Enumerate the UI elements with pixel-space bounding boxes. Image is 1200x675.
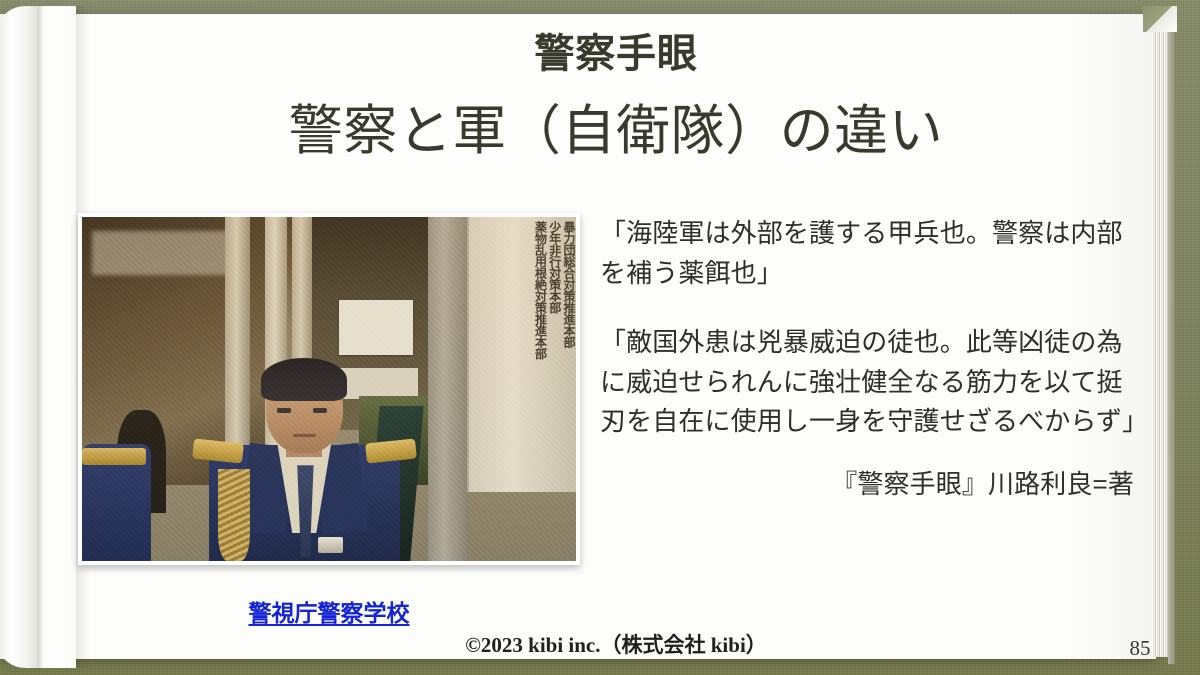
- book-cover-edge: [1168, 10, 1175, 664]
- photo-caption-link[interactable]: 警視庁警察学校: [78, 594, 580, 628]
- photo-film-grain: [82, 217, 576, 561]
- book-spine: [0, 6, 76, 668]
- book-backdrop: 警察手眼 警察と軍（自衛隊）の違い 暴力団総合対策推進本部: [0, 0, 1200, 675]
- officer-photo: 暴力団総合対策推進本部 少年非行対策本部 薬物乱用根絶対策推進本部: [82, 217, 576, 561]
- copyright-footer: ©2023 kibi inc.（株式会社 kibi）: [76, 629, 1156, 659]
- quote-attribution: 『警察手眼』川路利良=著: [600, 464, 1140, 501]
- page-title: 警察手眼: [76, 31, 1156, 77]
- page-subtitle: 警察と軍（自衛隊）の違い: [76, 99, 1156, 164]
- photo-frame: 暴力団総合対策推進本部 少年非行対策本部 薬物乱用根絶対策推進本部: [78, 213, 580, 565]
- quote-paragraph-2: 「敵国外患は兇暴威迫の徒也。此等凶徒の為に威迫せられんに強壮健全なる筋力を以て挺…: [600, 323, 1140, 442]
- slide-content: 警察手眼 警察と軍（自衛隊）の違い 暴力団総合対策推進本部: [76, 14, 1156, 659]
- body-text-column: 「海陸軍は外部を護する甲兵也。警察は内部を補う薬餌也」 「敵国外患は兇暴威迫の徒…: [600, 214, 1140, 501]
- quote-paragraph-1: 「海陸軍は外部を護する甲兵也。警察は内部を補う薬餌也」: [600, 214, 1140, 293]
- page-number: 85: [1120, 636, 1160, 661]
